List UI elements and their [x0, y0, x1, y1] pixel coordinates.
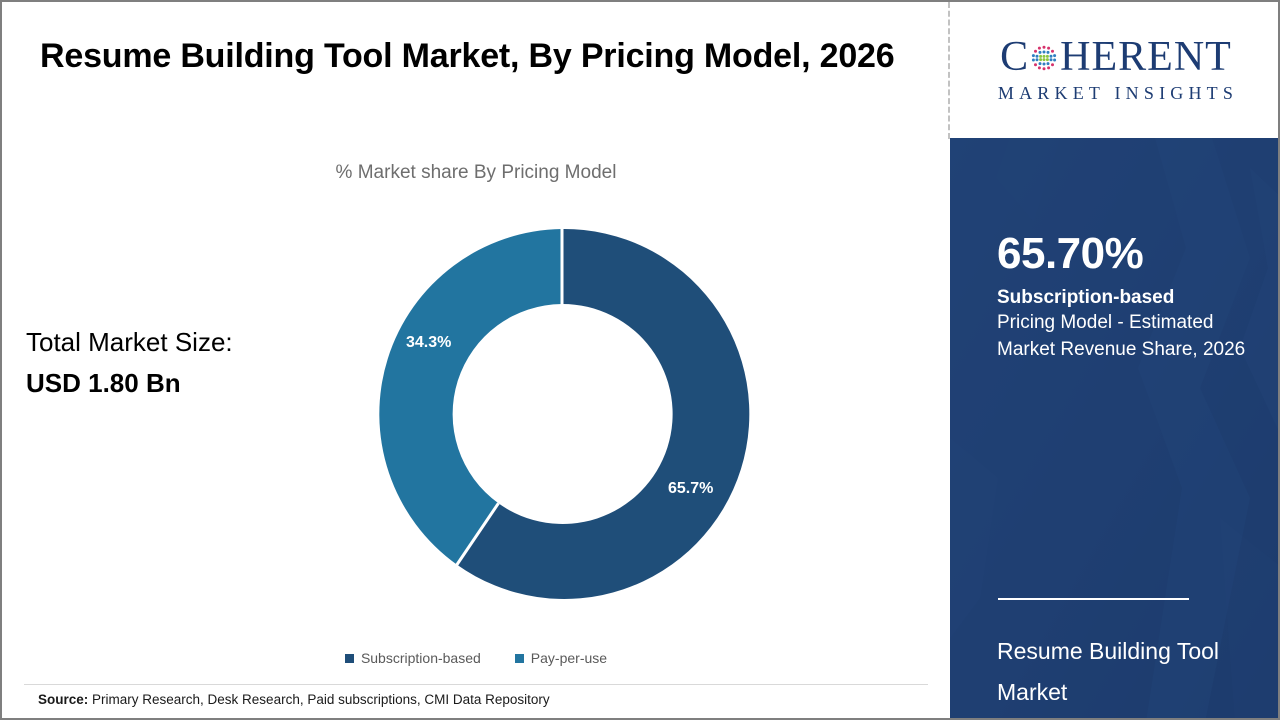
highlight-segment-name: Subscription-based — [997, 285, 1255, 311]
sidebar-pane: C — [950, 2, 1280, 720]
total-market-callout: Total Market Size: USD 1.80 Bn — [26, 322, 356, 404]
donut-slice-pay-per-use[interactable] — [379, 229, 562, 565]
logo-tagline: MARKET INSIGHTS — [994, 83, 1238, 104]
logo-word-coherent: HERENT — [1060, 36, 1232, 78]
donut-chart-svg — [372, 224, 752, 604]
legend-item-pay-per-use[interactable]: Pay-per-use — [515, 650, 607, 666]
source-divider — [24, 684, 928, 685]
legend-label-pay-per-use: Pay-per-use — [531, 650, 607, 666]
brand-logo[interactable]: C — [950, 2, 1280, 138]
page-title: Resume Building Tool Market, By Pricing … — [40, 32, 900, 81]
panel-horizontal-rule — [998, 598, 1189, 600]
highlight-text-block: 65.70% Subscription-based Pricing Model … — [997, 231, 1255, 364]
highlight-panel: 65.70% Subscription-based Pricing Model … — [950, 138, 1280, 720]
donut-label-pay-per-use: 34.3% — [406, 334, 451, 352]
legend-swatch-subscription-based — [345, 654, 354, 663]
highlight-percentage: 65.70% — [997, 231, 1255, 277]
panel-market-title: Resume Building Tool Market — [997, 631, 1259, 713]
infographic-canvas: Resume Building Tool Market, By Pricing … — [0, 0, 1280, 720]
chart-pane: Resume Building Tool Market, By Pricing … — [2, 2, 950, 720]
donut-label-subscription-based: 65.7% — [668, 480, 713, 498]
source-note: Source: Primary Research, Desk Research,… — [38, 692, 550, 707]
donut-chart: 65.7% 34.3% — [372, 224, 752, 604]
total-market-label: Total Market Size: — [26, 322, 356, 363]
chart-subtitle: % Market share By Pricing Model — [2, 162, 950, 184]
legend-swatch-pay-per-use — [515, 654, 524, 663]
source-label: Source: — [38, 692, 88, 707]
logo-wordmark: C — [1000, 36, 1232, 78]
highlight-description: Pricing Model - Estimated Market Revenue… — [997, 310, 1255, 364]
globe-dots-icon — [1029, 43, 1059, 73]
logo-letter-c: C — [1000, 36, 1029, 78]
total-market-value: USD 1.80 Bn — [26, 363, 356, 404]
source-text: Primary Research, Desk Research, Paid su… — [88, 692, 549, 707]
chart-legend: Subscription-based Pay-per-use — [2, 650, 950, 666]
legend-label-subscription-based: Subscription-based — [361, 650, 481, 666]
legend-item-subscription-based[interactable]: Subscription-based — [345, 650, 481, 666]
